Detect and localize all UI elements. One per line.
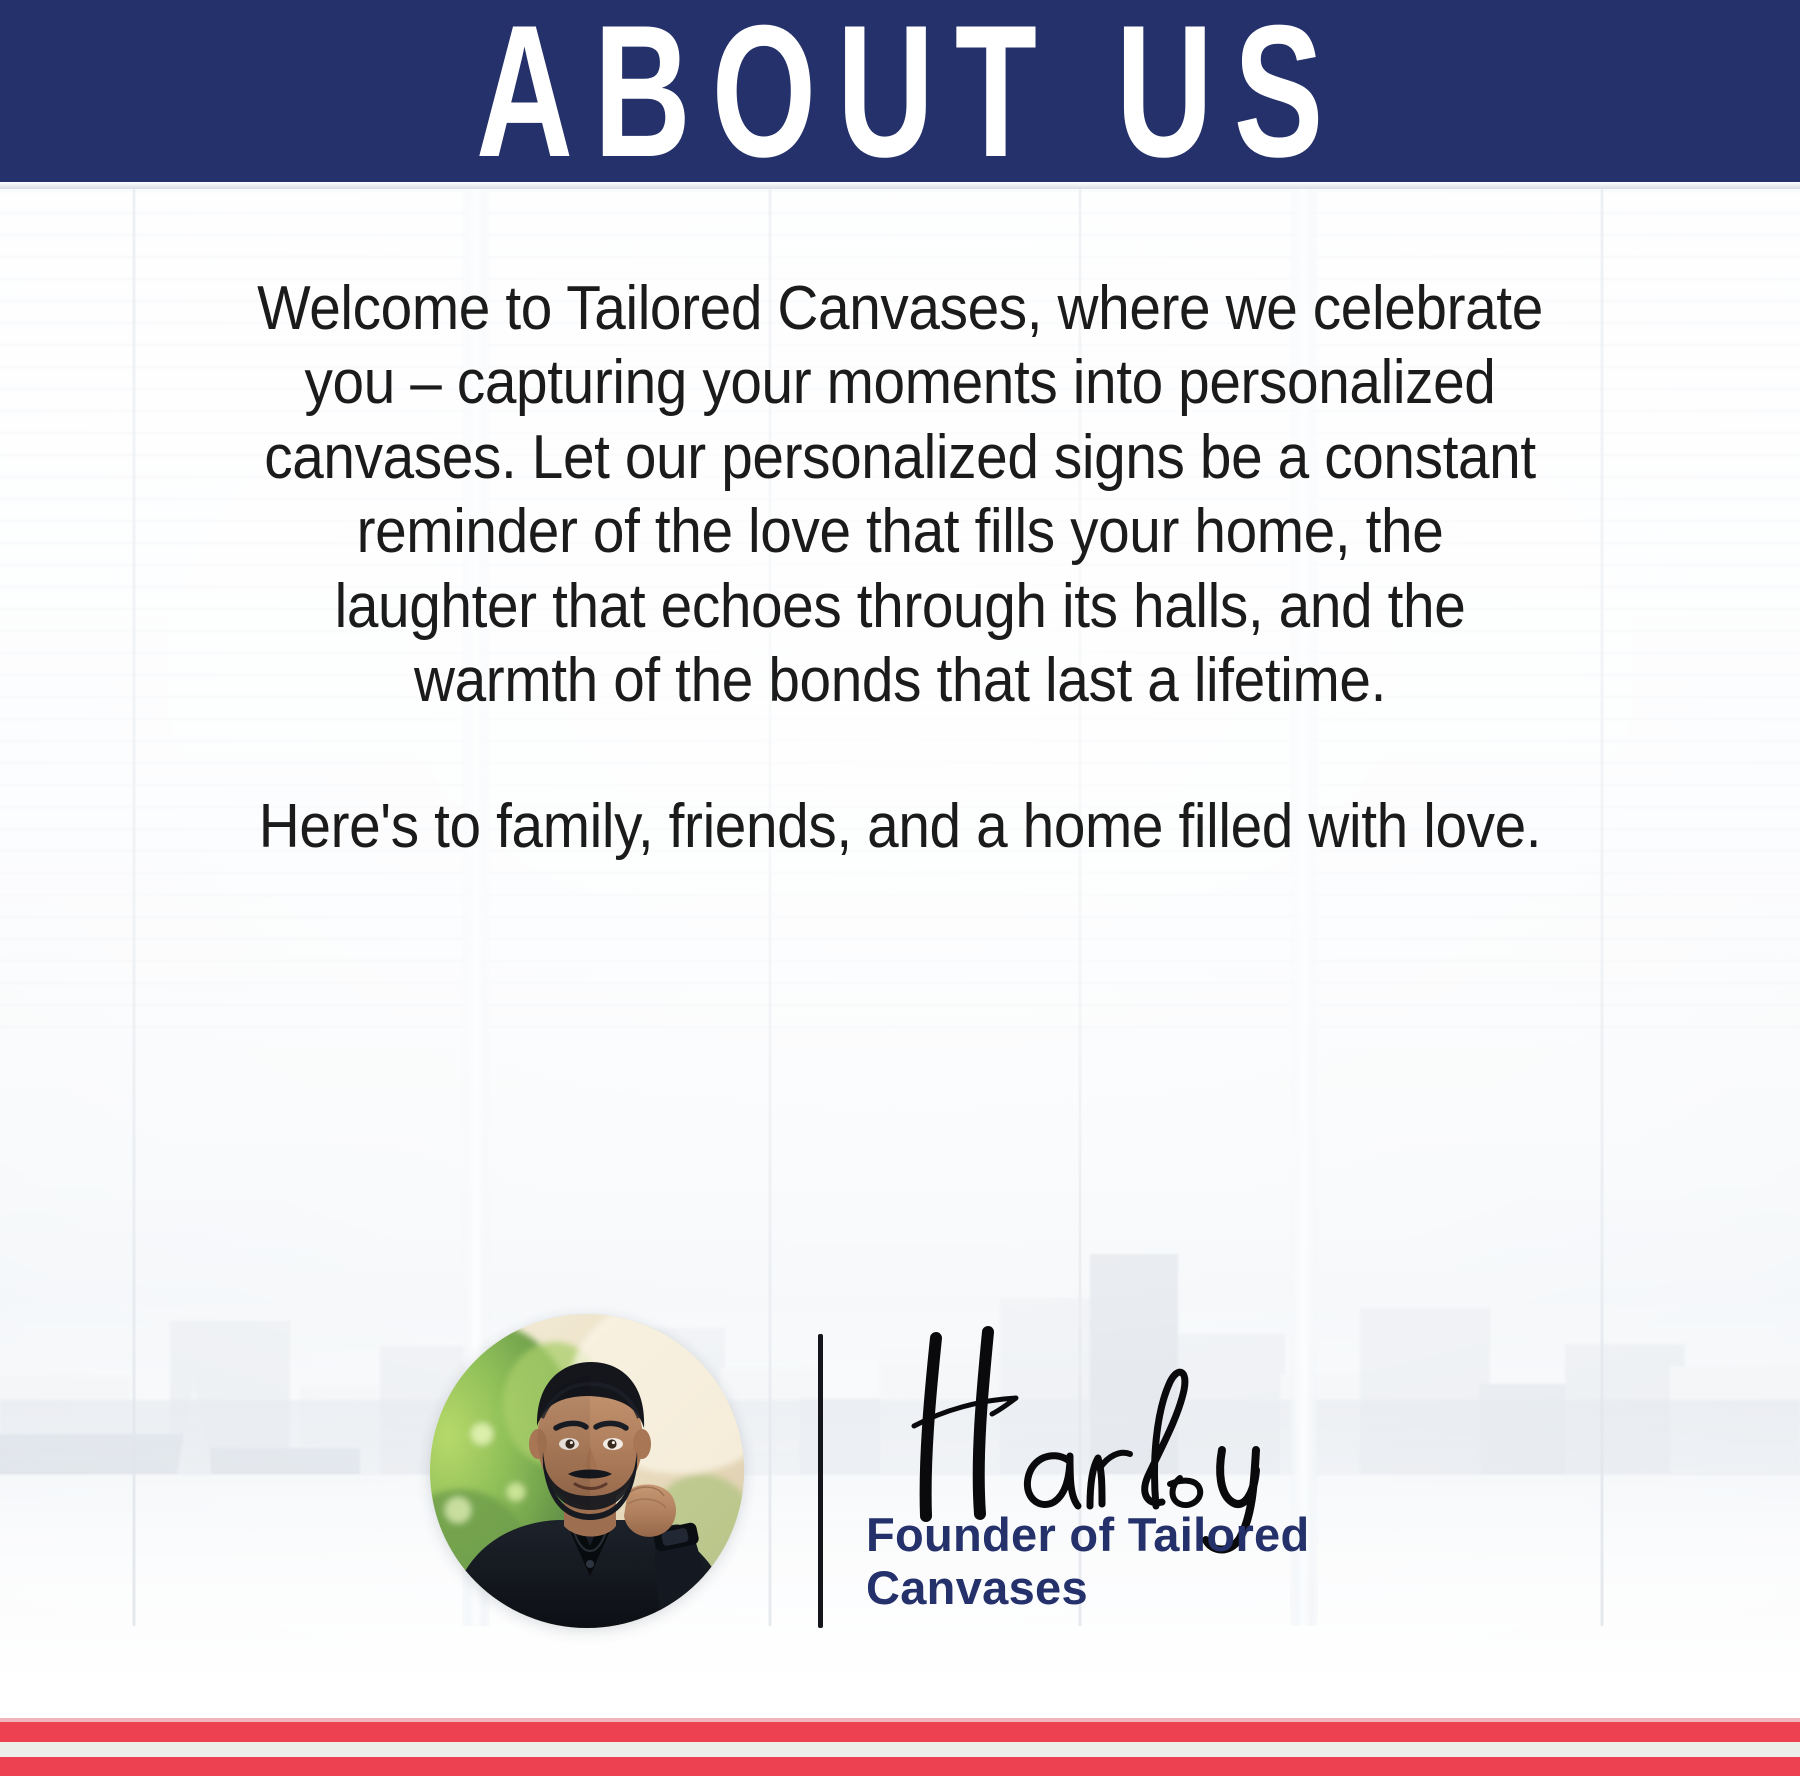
founder-role: Founder of Tailored Canvases xyxy=(866,1508,1506,1614)
footer-stripe-lower xyxy=(0,1757,1800,1776)
about-us-copy: Welcome to Tailored Canvases, where we c… xyxy=(190,272,1610,865)
signature-block: Founder of Tailored Canvases xyxy=(0,1300,1800,1680)
founder-role-line-1: Founder of Tailored xyxy=(866,1508,1506,1561)
footer-stripe-upper xyxy=(0,1722,1800,1742)
paragraph-spacer xyxy=(190,718,1610,790)
page-header: ABOUT US xyxy=(0,0,1800,182)
about-us-poster: ABOUT US Welcome to Tailored Canvases, w… xyxy=(0,0,1800,1776)
about-paragraph-2: Here's to family, friends, and a home fi… xyxy=(250,790,1549,864)
signature-divider xyxy=(818,1334,823,1628)
footer-stripe-gap xyxy=(0,1742,1800,1757)
founder-role-line-2: Canvases xyxy=(866,1561,1506,1614)
founder-avatar xyxy=(430,1314,744,1628)
about-paragraph-1: Welcome to Tailored Canvases, where we c… xyxy=(250,272,1549,718)
page-title: ABOUT US xyxy=(455,0,1344,185)
header-underline xyxy=(0,182,1800,189)
avatar-image xyxy=(430,1314,744,1628)
